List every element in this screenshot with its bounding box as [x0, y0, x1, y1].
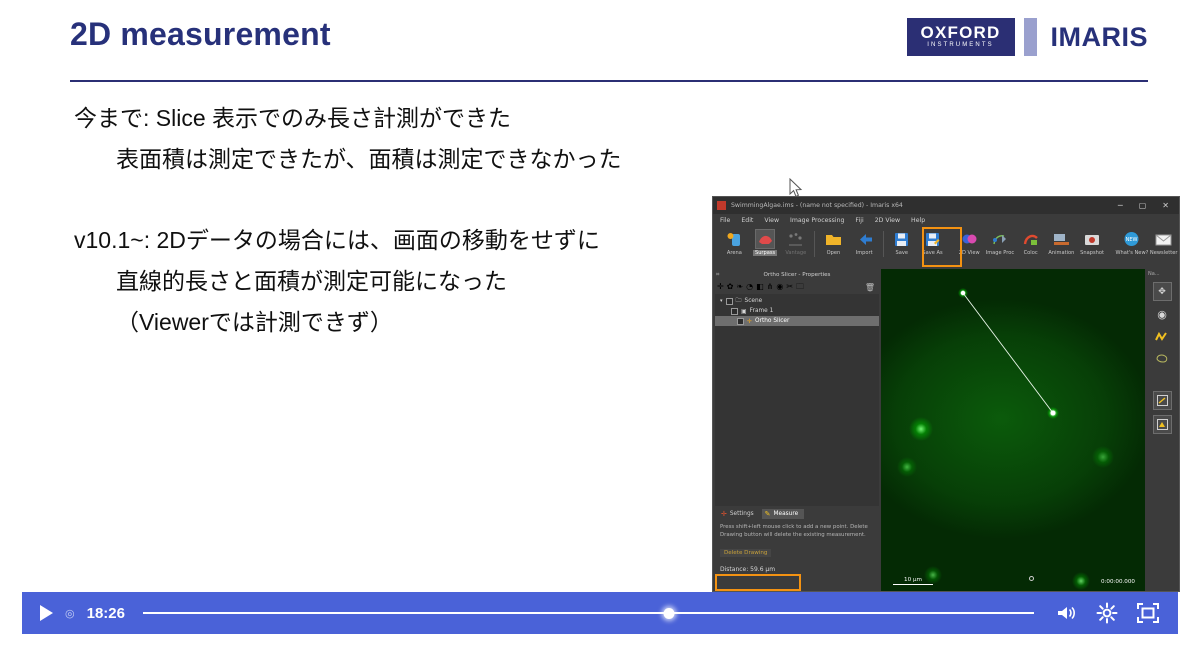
toolbar-button-vantage[interactable]: Vantage: [780, 229, 811, 256]
instruments-wordmark: INSTRUMENTS: [927, 41, 993, 50]
lasso-freehand-icon[interactable]: [1154, 350, 1171, 367]
panel-dock-icon: ⌗: [716, 271, 719, 279]
toolbar-button-newsletter[interactable]: Newsletter: [1148, 229, 1179, 256]
viewer-tool-rail: Na... ✥ ◉: [1145, 269, 1179, 592]
slide-body: 今まで: Slice 表示でのみ長さ計測ができた 表面積は測定できたが、面積は測…: [74, 98, 774, 343]
captions-icon[interactable]: ◎: [65, 607, 75, 620]
floppy-save-as-icon: [922, 229, 942, 249]
add-filament-icon[interactable]: ⋔: [767, 283, 774, 291]
page-title: 2D measurement: [70, 16, 331, 53]
scene-folder-icon: 🗀: [736, 296, 742, 306]
menubar: File Edit View Image Processing Fiji 2D …: [713, 214, 1179, 227]
menu-help[interactable]: Help: [911, 217, 925, 224]
maximize-icon[interactable]: ▢: [1139, 202, 1147, 210]
play-button[interactable]: [40, 605, 53, 621]
body-line-2: 表面積は測定できたが、面積は測定できなかった: [74, 139, 774, 180]
tab-label-settings: Settings: [730, 511, 754, 517]
toolbar-label-save-as: Save As: [922, 250, 942, 256]
frame-icon: ▣: [741, 308, 747, 315]
toolbar-label-animation: Animation: [1048, 250, 1074, 256]
body-line-3: v10.1~: 2Dデータの場合には、画面の移動をせずに: [74, 220, 774, 261]
panel-header: ⌗ Ortho Slicer - Properties: [713, 269, 881, 280]
measurement-line: [881, 269, 1145, 592]
toolbar-button-coloc[interactable]: Coloc: [1015, 229, 1046, 256]
toolbar-button-surpass[interactable]: Surpass: [750, 229, 781, 256]
progress-track[interactable]: [143, 612, 1034, 614]
toolbar-label-coloc: Coloc: [1024, 250, 1038, 256]
tree-row-frame[interactable]: ▣ Frame 1: [715, 306, 879, 316]
fullscreen-icon[interactable]: [1136, 602, 1160, 624]
folder-open-icon: [823, 229, 843, 249]
video-player-controls: ◎ 18:26: [22, 592, 1178, 634]
tree-row-scene[interactable]: ▾ 🗀 Scene: [715, 296, 879, 306]
toolbar-button-save[interactable]: Save: [886, 229, 917, 256]
properties-tab-strip: ✛ Settings ✎ Measure: [713, 506, 881, 519]
oxford-wordmark: OXFORD: [921, 24, 1001, 41]
volume-icon[interactable]: [1056, 604, 1078, 622]
svg-text:NEW: NEW: [1126, 237, 1138, 243]
rail-header-label: Na...: [1145, 271, 1160, 277]
menu-view[interactable]: View: [764, 217, 779, 224]
arena-icon: [724, 229, 744, 249]
import-arrow-icon: [854, 229, 874, 249]
toolbar-label-open: Open: [827, 250, 841, 256]
main-toolbar: Arena Surpass Vantage Open Import: [713, 227, 1179, 269]
toolbar-label-surpass: Surpass: [753, 250, 777, 256]
scale-bar-label: 10 µm: [893, 577, 933, 583]
vantage-icon: [786, 229, 806, 249]
toolbar-label-vantage: Vantage: [785, 250, 806, 256]
surpass-icon: [755, 229, 775, 249]
add-surface-icon[interactable]: ✛: [717, 283, 724, 291]
whats-new-badge-icon: NEW: [1122, 229, 1142, 249]
tree-label-scene: Scene: [745, 298, 763, 304]
add-spots-icon[interactable]: ✿: [727, 283, 734, 291]
viewport-timestamp: 0:00:00.000: [1101, 579, 1135, 585]
window-controls: ─ ▢ ✕: [1118, 202, 1175, 210]
objects-panel: ⌗ Ortho Slicer - Properties ✛ ✿ ❧ ◔ ◧ ⋔ …: [713, 269, 881, 592]
window-titlebar: SwimmingAlgae.ims - (name not specified)…: [713, 197, 1179, 214]
navigate-orbit-icon[interactable]: ◉: [1154, 306, 1171, 323]
object-create-toolbar: ✛ ✿ ❧ ◔ ◧ ⋔ ◉ ✂ 🗀 🗑: [713, 280, 881, 294]
image-viewport[interactable]: 10 µm 0:00:00.000: [881, 269, 1145, 592]
tab-settings[interactable]: ✛ Settings: [718, 509, 760, 519]
toolbar-button-animation[interactable]: Animation: [1046, 229, 1077, 256]
header-divider: [70, 80, 1148, 82]
add-cell-icon[interactable]: ◉: [776, 283, 783, 291]
snapshot-camera-icon: [1082, 229, 1102, 249]
menu-image-processing[interactable]: Image Processing: [790, 217, 844, 224]
scale-bar: 10 µm: [893, 577, 933, 586]
toolbar-button-whats-new[interactable]: NEW What's New?: [1115, 229, 1148, 256]
toolbar-label-image-proc: Image Proc: [986, 250, 1014, 256]
add-group-folder-icon[interactable]: 🗀: [796, 283, 804, 291]
gear-icon[interactable]: [1096, 602, 1118, 624]
distance-value: Distance: 59.6 µm: [720, 566, 875, 573]
body-line-4: 直線的長さと面積が測定可能になった: [74, 261, 774, 302]
toolbar-label-import: Import: [856, 250, 873, 256]
toolbar-button-2d-view[interactable]: 2D View: [954, 229, 985, 256]
select-pointer-icon[interactable]: ✥: [1153, 282, 1172, 301]
object-tree: ▾ 🗀 Scene ▣ Frame 1 ✛ Ortho Slicer: [715, 294, 879, 506]
frame-checkbox[interactable]: [731, 308, 738, 315]
floppy-save-icon: [892, 229, 912, 249]
toolbar-label-save: Save: [896, 250, 909, 256]
toolbar-button-open[interactable]: Open: [818, 229, 849, 256]
panel-header-label: Ortho Slicer - Properties: [764, 272, 831, 278]
progress-bar[interactable]: [143, 604, 1034, 622]
playback-time: 18:26: [87, 605, 125, 622]
app-body: ⌗ Ortho Slicer - Properties ✛ ✿ ❧ ◔ ◧ ⋔ …: [713, 269, 1179, 592]
delete-object-icon[interactable]: 🗑: [865, 283, 875, 292]
pencil-measure-icon: ✎: [765, 510, 771, 518]
toolbar-label-2d-view: 2D View: [959, 250, 980, 256]
ortho-slicer-icon: ✛: [747, 318, 752, 325]
viewport-center-marker: [1029, 576, 1034, 581]
minimize-icon[interactable]: ─: [1118, 202, 1123, 210]
toolbar-divider-1: [814, 231, 815, 257]
add-measurement-icon[interactable]: ✂: [786, 283, 793, 291]
coloc-icon: [1021, 229, 1041, 249]
animation-icon: [1051, 229, 1071, 249]
logo-divider-bar: [1024, 18, 1037, 56]
menu-edit[interactable]: Edit: [741, 217, 753, 224]
imaris-app-window: SwimmingAlgae.ims - (name not specified)…: [712, 196, 1180, 592]
paragraph-gap: [74, 180, 774, 220]
toolbar-button-arena[interactable]: Arena: [719, 229, 750, 256]
envelope-icon: [1154, 229, 1174, 249]
add-surfaces-group-icon[interactable]: ❧: [736, 283, 743, 291]
body-line-1: 今まで: Slice 表示でのみ長さ計測ができた: [74, 98, 774, 139]
measure-help-text: Press shift+left mouse click to add a ne…: [720, 524, 875, 539]
mouse-cursor: [789, 178, 803, 198]
draw-polyline-icon[interactable]: [1154, 328, 1171, 345]
scene-checkbox[interactable]: [726, 298, 733, 305]
highlight-distance: [715, 574, 801, 591]
2d-view-icon: [959, 229, 979, 249]
scale-bar-line: [893, 584, 933, 586]
image-processing-icon: [990, 229, 1010, 249]
tab-label-measure: Measure: [774, 511, 799, 517]
ortho-slicer-checkbox[interactable]: [737, 318, 744, 325]
delete-drawing-button[interactable]: Delete Drawing: [720, 549, 771, 557]
oxford-instruments-logo: OXFORD INSTRUMENTS: [907, 18, 1015, 56]
settings-wrench-icon: ✛: [721, 510, 727, 518]
imaris-app-icon: [717, 201, 726, 210]
toolbar-button-import[interactable]: Import: [849, 229, 880, 256]
toolbar-divider-2: [883, 231, 884, 257]
toolbar-button-save-as[interactable]: Save As: [917, 229, 948, 256]
menu-fiji[interactable]: Fiji: [855, 217, 863, 224]
add-slice-icon[interactable]: ◧: [756, 283, 764, 291]
measure-pane: Press shift+left mouse click to add a ne…: [713, 519, 881, 592]
menu-file[interactable]: File: [720, 217, 730, 224]
toolbar-label-snapshot: Snapshot: [1080, 250, 1104, 256]
measure-area-icon[interactable]: [1153, 415, 1172, 434]
toolbar-button-image-proc[interactable]: Image Proc: [985, 229, 1016, 256]
close-icon[interactable]: ✕: [1162, 202, 1169, 210]
toolbar-label-arena: Arena: [727, 250, 742, 256]
imaris-wordmark: IMARIS: [1051, 22, 1149, 53]
tree-label-frame: Frame 1: [750, 308, 774, 314]
toolbar-label-whats-new: What's New?: [1115, 250, 1148, 256]
toolbar-label-newsletter: Newsletter: [1150, 250, 1178, 256]
body-line-5: （Viewerでは計測できず）: [74, 302, 774, 343]
progress-knob[interactable]: [663, 608, 674, 619]
toolbar-button-snapshot[interactable]: Snapshot: [1077, 229, 1108, 256]
add-volume-icon[interactable]: ◔: [746, 283, 753, 291]
expand-arrow-icon[interactable]: ▾: [720, 298, 723, 304]
brand-logo: OXFORD INSTRUMENTS IMARIS: [907, 18, 1149, 56]
tree-label-ortho-slicer: Ortho Slicer: [755, 318, 789, 324]
measure-distance-icon[interactable]: [1153, 391, 1172, 410]
window-title: SwimmingAlgae.ims - (name not specified)…: [731, 202, 903, 209]
tree-row-ortho-slicer[interactable]: ✛ Ortho Slicer: [715, 316, 879, 326]
menu-2d-view[interactable]: 2D View: [875, 217, 900, 224]
tab-measure[interactable]: ✎ Measure: [762, 509, 805, 519]
